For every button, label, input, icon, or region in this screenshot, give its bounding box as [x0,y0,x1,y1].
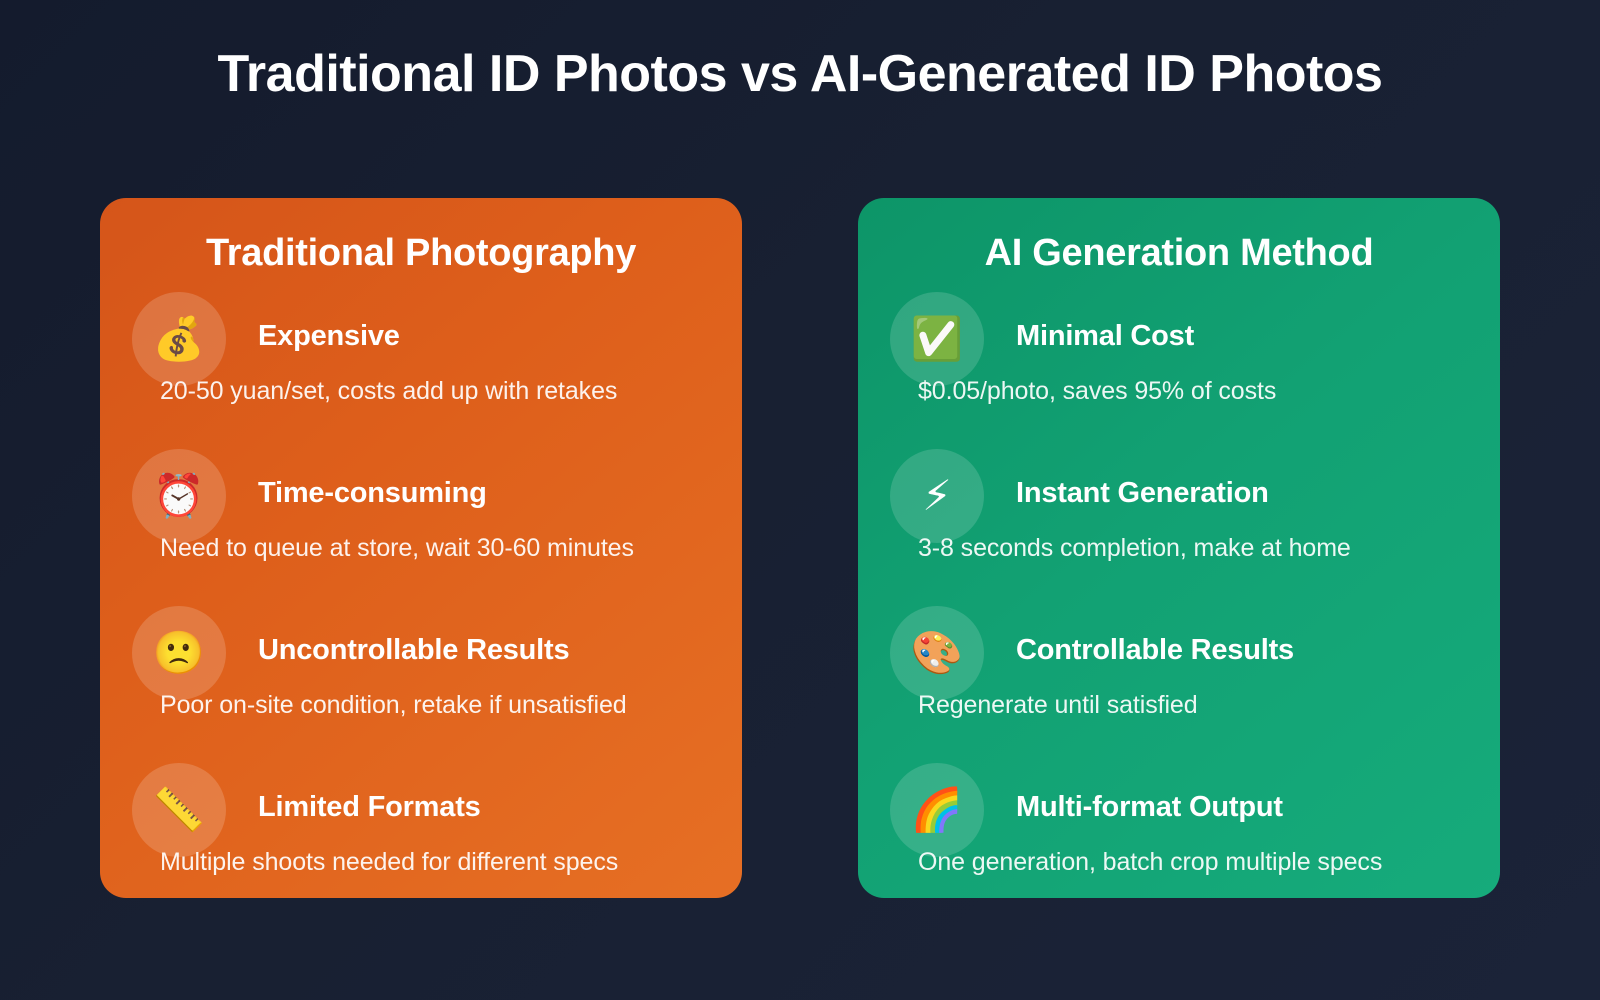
feature-item: 💰 Expensive 20-50 yuan/set, costs add up… [136,292,706,449]
feature-heading: Time-consuming [258,477,487,510]
feature-list-traditional: 💰 Expensive 20-50 yuan/set, costs add up… [136,292,706,898]
feature-item: ⚡ Instant Generation 3-8 seconds complet… [894,449,1464,606]
feature-heading: Multi-format Output [1016,791,1283,824]
frowning-face-icon: 🙁 [132,606,226,700]
feature-heading: Instant Generation [1016,477,1269,510]
feature-description: Multiple shoots needed for different spe… [160,848,618,877]
feature-description: Poor on-site condition, retake if unsati… [160,691,627,720]
feature-heading: Limited Formats [258,791,481,824]
feature-description: Regenerate until satisfied [918,691,1198,720]
feature-description: 3-8 seconds completion, make at home [918,534,1351,563]
feature-item: 📏 Limited Formats Multiple shoots needed… [136,763,706,898]
feature-item: ⏰ Time-consuming Need to queue at store,… [136,449,706,606]
feature-heading: Minimal Cost [1016,320,1194,353]
card-traditional-photography: Traditional Photography 💰 Expensive 20-5… [100,198,742,898]
feature-description: Need to queue at store, wait 30-60 minut… [160,534,634,563]
rainbow-icon: 🌈 [890,763,984,857]
feature-item: ✅ Minimal Cost $0.05/photo, saves 95% of… [894,292,1464,449]
card-title-traditional: Traditional Photography [136,232,706,276]
feature-description: One generation, batch crop multiple spec… [918,848,1382,877]
feature-heading: Uncontrollable Results [258,634,569,667]
feature-description: 20-50 yuan/set, costs add up with retake… [160,377,617,406]
lightning-bolt-icon: ⚡ [890,449,984,543]
artist-palette-icon: 🎨 [890,606,984,700]
feature-item: 🙁 Uncontrollable Results Poor on-site co… [136,606,706,763]
feature-heading: Expensive [258,320,400,353]
straight-ruler-icon: 📏 [132,763,226,857]
feature-description: $0.05/photo, saves 95% of costs [918,377,1276,406]
alarm-clock-icon: ⏰ [132,449,226,543]
feature-list-ai: ✅ Minimal Cost $0.05/photo, saves 95% of… [894,292,1464,898]
check-mark-button-icon: ✅ [890,292,984,386]
card-ai-generation-method: AI Generation Method ✅ Minimal Cost $0.0… [858,198,1500,898]
page-title: Traditional ID Photos vs AI-Generated ID… [0,46,1600,103]
money-bag-icon: 💰 [132,292,226,386]
feature-item: 🎨 Controllable Results Regenerate until … [894,606,1464,763]
feature-heading: Controllable Results [1016,634,1294,667]
card-title-ai: AI Generation Method [894,232,1464,276]
comparison-cards: Traditional Photography 💰 Expensive 20-5… [100,198,1500,898]
feature-item: 🌈 Multi-format Output One generation, ba… [894,763,1464,898]
